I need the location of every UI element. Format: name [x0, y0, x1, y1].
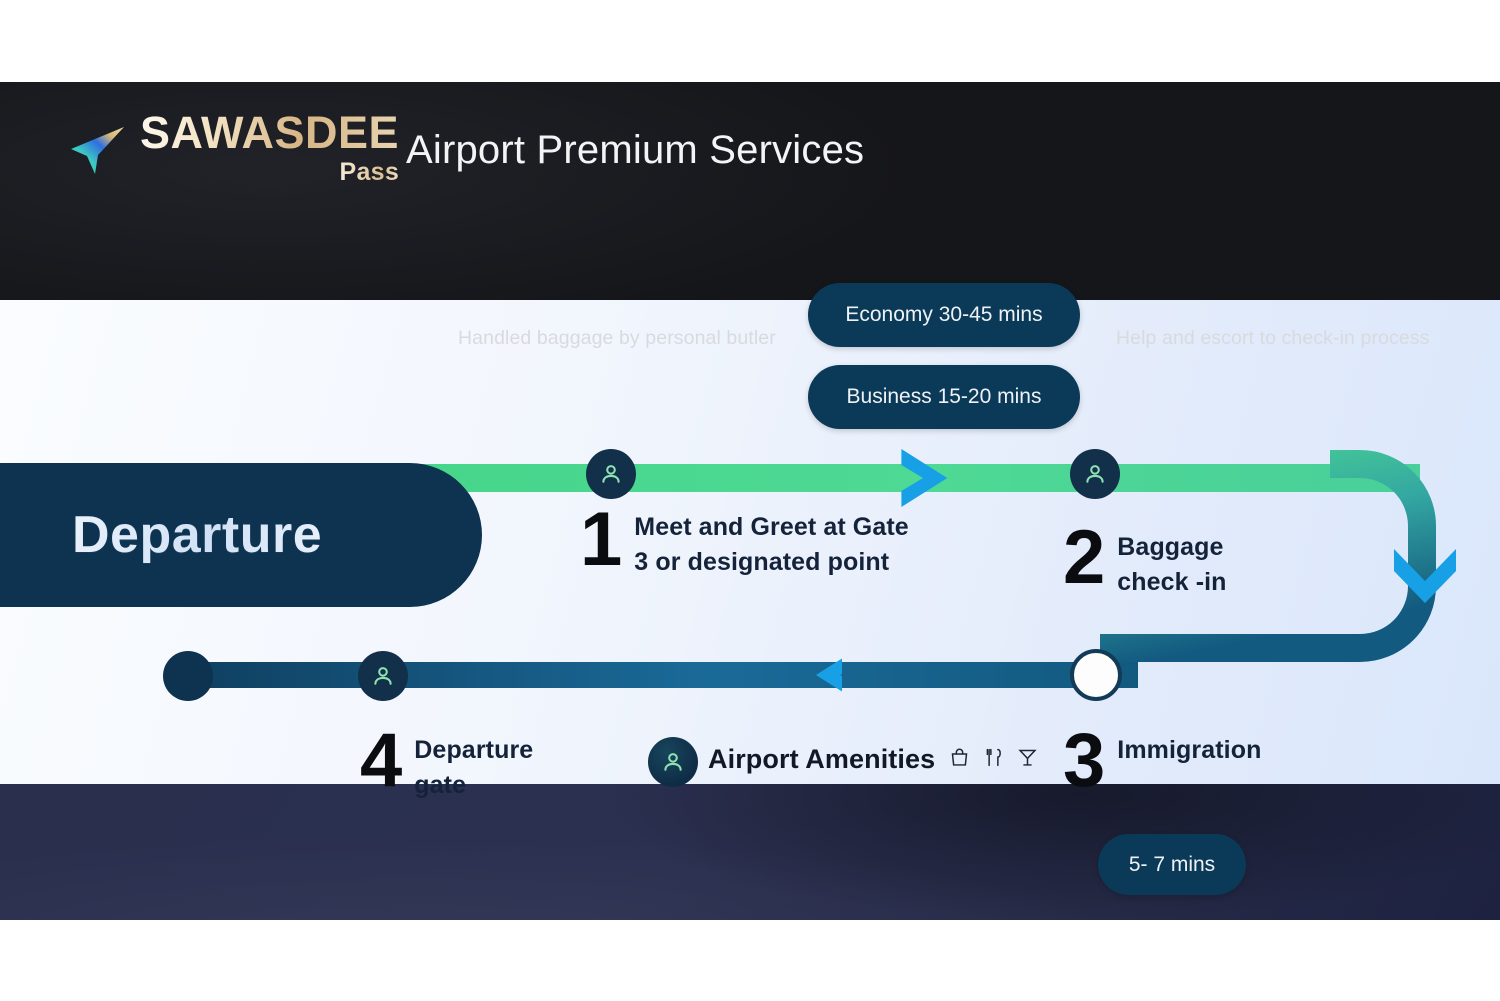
track-ring-node	[1070, 649, 1122, 701]
pill-immigration-time[interactable]: 5- 7 mins	[1098, 834, 1246, 895]
amenities-label: Airport Amenities	[708, 744, 935, 775]
pill-business[interactable]: Business 15-20 mins	[808, 365, 1080, 429]
person-node-icon-4	[358, 651, 408, 701]
paper-plane-logo-icon	[68, 121, 128, 177]
departure-badge-label: Departure	[72, 505, 322, 565]
step-3: 3 Immigration	[1063, 727, 1261, 795]
step-4-label: Departure gate	[414, 733, 574, 802]
brand-logo: SAWASDEE Pass	[68, 110, 399, 185]
brand-name: SAWASDEE	[140, 110, 399, 155]
departure-badge: Departure	[0, 463, 482, 607]
step-3-label: Immigration	[1117, 733, 1261, 768]
step-4-number: 4	[360, 727, 400, 795]
caption-right: Help and escort to check-in process	[1116, 327, 1429, 350]
pill-economy[interactable]: Economy 30-45 mins	[808, 283, 1080, 347]
airport-amenities: Airport Amenities	[708, 744, 1038, 775]
person-node-icon-1	[586, 449, 636, 499]
amenities-icons	[949, 746, 1038, 774]
footer-haze	[0, 784, 1500, 920]
step-3-number: 3	[1063, 727, 1103, 795]
brand-subtitle: Pass	[339, 160, 399, 185]
page-title: Airport Premium Services	[406, 128, 864, 173]
step-4: 4 Departure gate	[360, 727, 574, 802]
step-2: 2 Baggage check -in	[1063, 524, 1297, 599]
person-node-icon-2	[1070, 449, 1120, 499]
person-node-icon-amenities	[648, 737, 698, 787]
track-end-dot	[163, 651, 213, 701]
step-1: 1 Meet and Greet at Gate 3 or designated…	[580, 506, 924, 579]
step-1-number: 1	[580, 506, 620, 574]
slide-header: SAWASDEE Pass Airport Premium Services	[0, 82, 1500, 300]
step-2-number: 2	[1063, 524, 1103, 592]
shopping-bag-icon	[949, 746, 970, 774]
slide-footer	[0, 784, 1500, 920]
caption-left: Handled baggage by personal butler	[458, 327, 776, 350]
step-2-label: Baggage check -in	[1117, 530, 1297, 599]
slide-canvas: SAWASDEE Pass Airport Premium Services H…	[0, 82, 1500, 920]
fork-and-knife-icon	[983, 746, 1004, 774]
cocktail-glass-icon	[1017, 746, 1038, 774]
step-1-label: Meet and Greet at Gate 3 or designated p…	[634, 510, 924, 579]
